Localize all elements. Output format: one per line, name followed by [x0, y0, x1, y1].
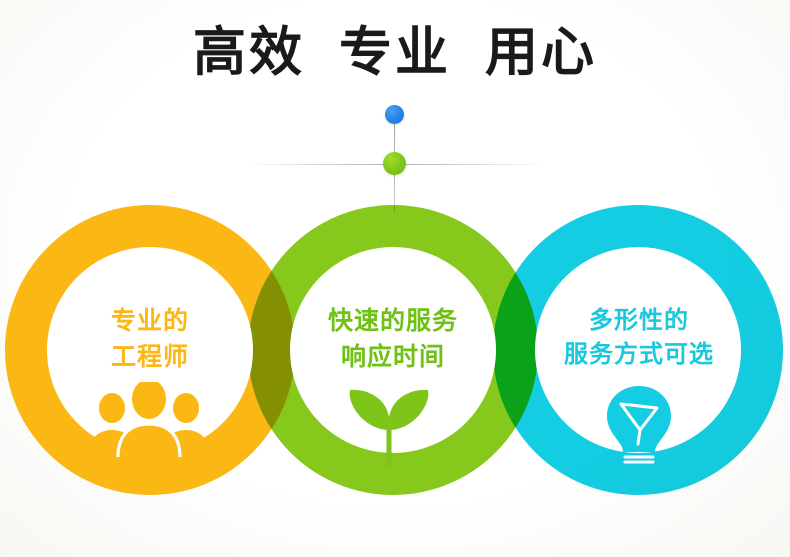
card-label-engineers: 专业的 工程师: [35, 303, 265, 374]
poster-canvas: 高效 专业 用心 专业的 工程师: [0, 0, 790, 557]
sprout-leaf-icon: [330, 386, 448, 466]
card-label-service-modes: 多形性的 服务方式可选: [523, 303, 755, 371]
venn-rings-group: [0, 0, 790, 557]
lightbulb-icon: [604, 386, 674, 464]
people-icon: [88, 382, 210, 457]
card-label-response-time: 快速的服务 响应时间: [278, 303, 508, 374]
